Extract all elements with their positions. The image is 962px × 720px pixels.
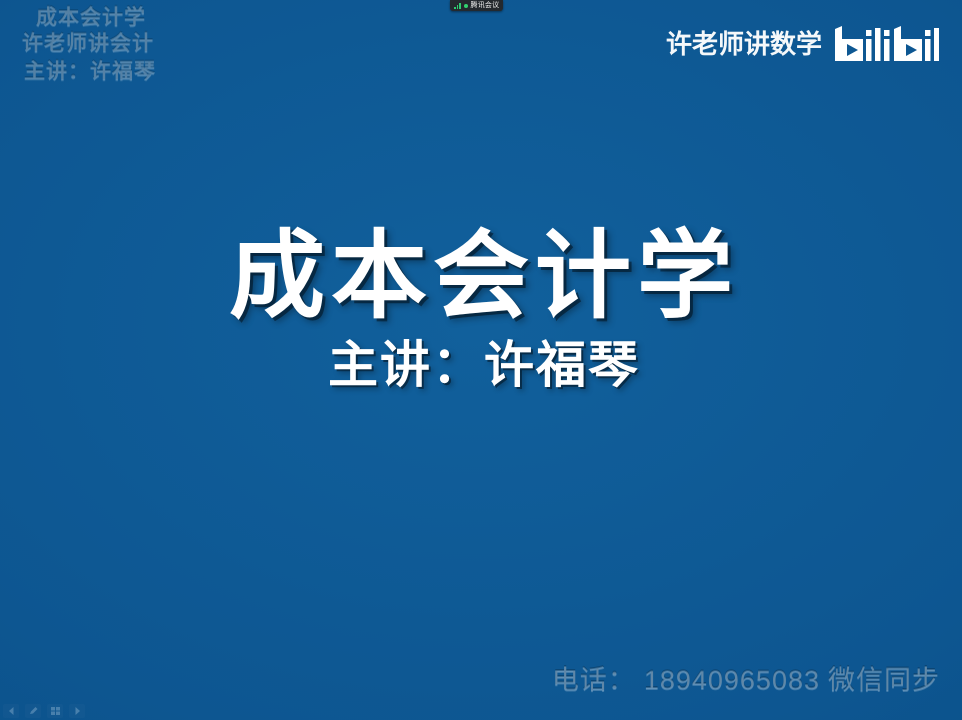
slide-subtitle-lecturer: 主讲：许福琴 <box>0 335 962 395</box>
presentation-screen: 成本会计学 许老师讲会计 主讲：许福琴 腾讯会议 许老师讲数学 <box>0 0 962 720</box>
meeting-app-label: 腾讯会议 <box>471 2 500 9</box>
slide-menu-button[interactable] <box>47 704 63 718</box>
arrow-right-icon <box>72 706 83 716</box>
grid-icon <box>50 706 61 716</box>
signal-bars-icon <box>454 2 461 9</box>
pen-icon <box>28 706 39 716</box>
bilibili-logo-icon <box>832 24 940 64</box>
slide-title: 成本会计学 <box>0 225 962 329</box>
tencent-meeting-badge[interactable]: 腾讯会议 <box>450 0 503 11</box>
status-dot-icon <box>464 4 468 8</box>
channel-watermark: 许老师讲数学 <box>666 24 940 64</box>
channel-name-label: 许老师讲数学 <box>666 29 822 59</box>
next-slide-button[interactable] <box>69 704 85 718</box>
previous-slide-button[interactable] <box>3 704 19 718</box>
slideshow-toolbar[interactable] <box>3 704 85 718</box>
arrow-left-icon <box>6 706 17 716</box>
pen-tool-button[interactable] <box>25 704 41 718</box>
slide-content: 成本会计学 主讲：许福琴 <box>0 225 962 395</box>
